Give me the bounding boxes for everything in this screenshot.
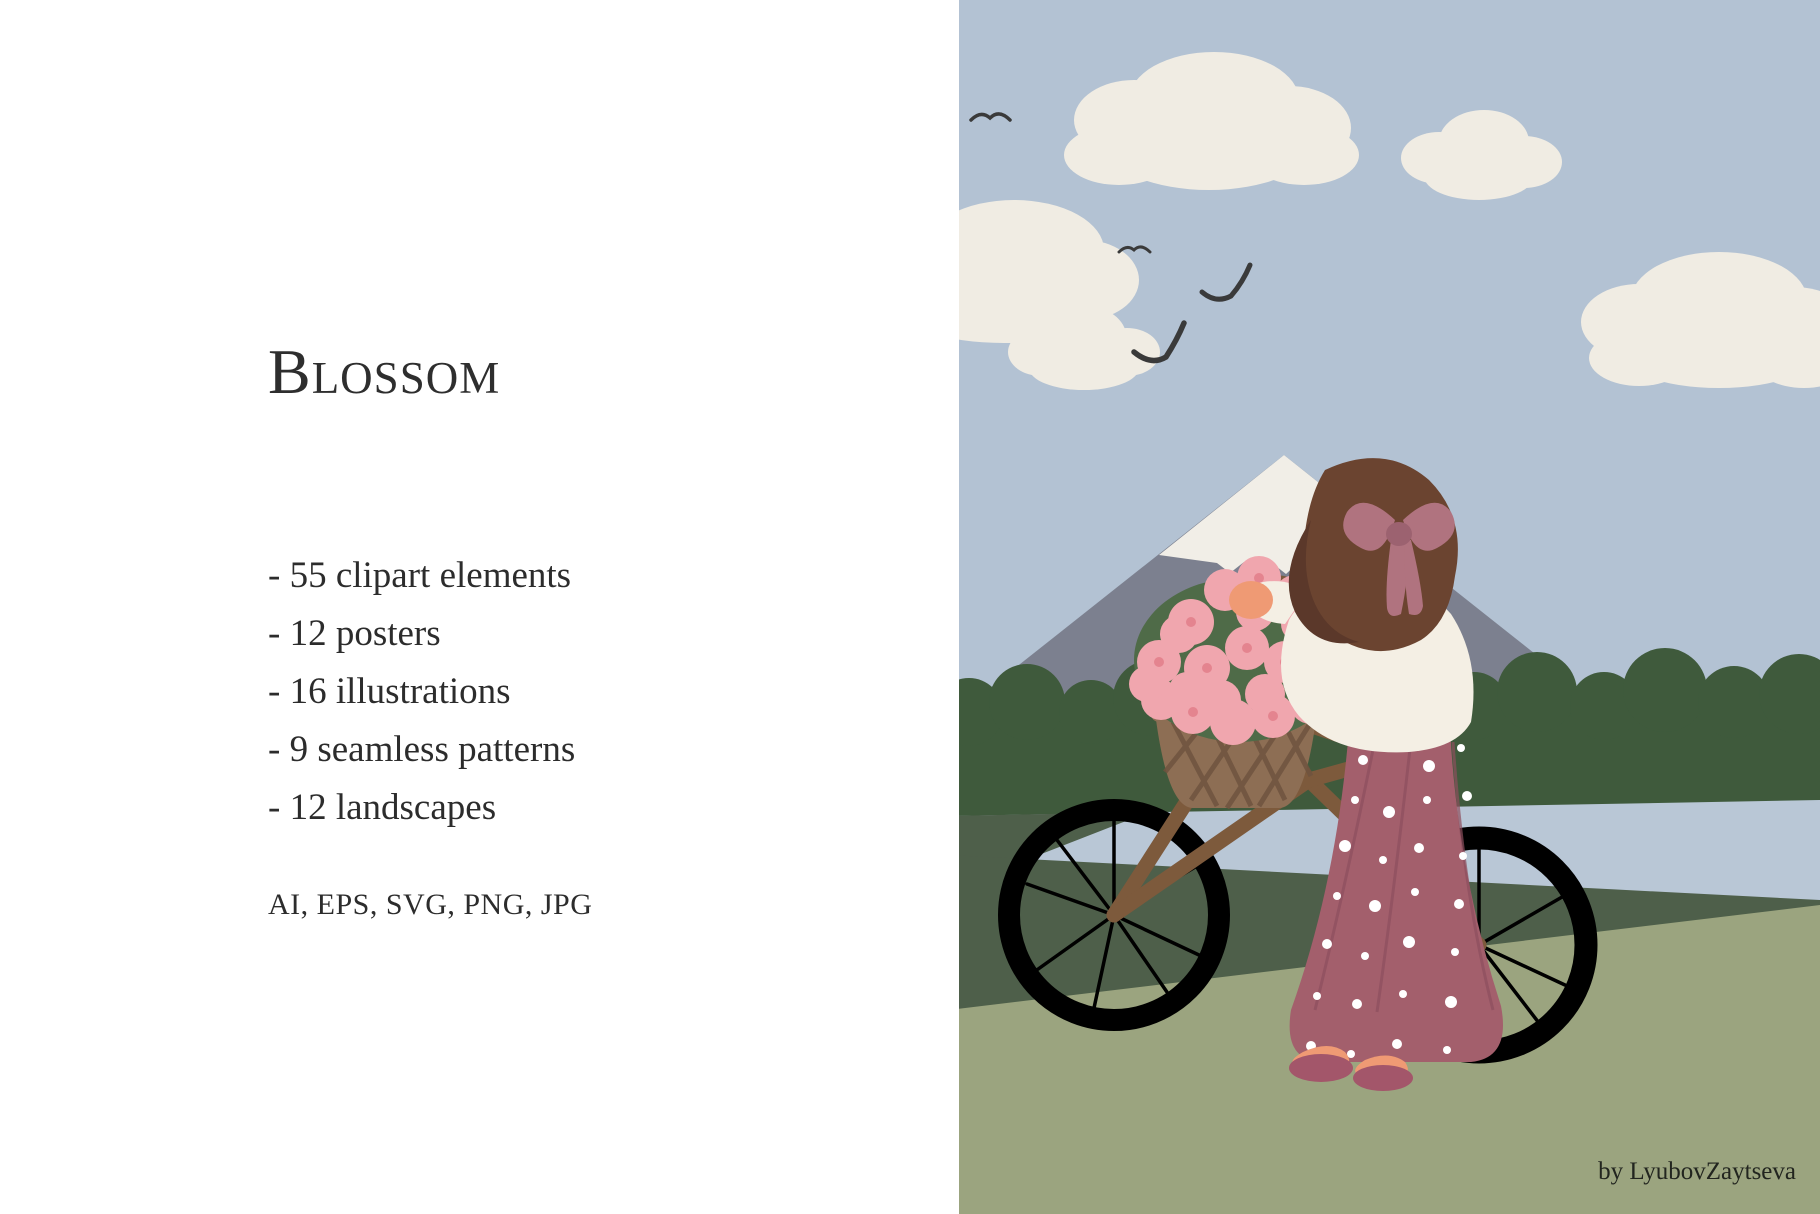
illustration-panel: by LyubovZaytseva xyxy=(959,0,1820,1214)
scene-svg xyxy=(959,0,1820,1214)
hand xyxy=(1229,581,1273,619)
list-item: - 9 seamless patterns xyxy=(268,721,908,779)
poster-canvas: Blossom - 55 clipart elements - 12 poste… xyxy=(0,0,1820,1214)
text-panel: Blossom - 55 clipart elements - 12 poste… xyxy=(0,0,959,1214)
feature-list: - 55 clipart elements - 12 posters - 16 … xyxy=(268,547,908,837)
list-item: - 55 clipart elements xyxy=(268,547,908,605)
list-item: - 12 posters xyxy=(268,605,908,663)
file-formats-label: AI, EPS, SVG, PNG, JPG xyxy=(268,888,592,922)
list-item: - 16 illustrations xyxy=(268,663,908,721)
page-title: Blossom xyxy=(268,340,500,404)
list-item: - 12 landscapes xyxy=(268,779,908,837)
author-credit: by LyubovZaytseva xyxy=(1598,1158,1796,1186)
